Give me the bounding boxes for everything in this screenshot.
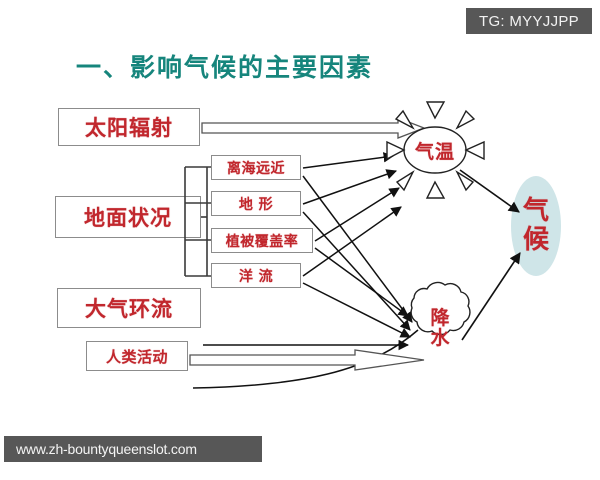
outcome-label-temperature: 气温 [404,128,466,172]
arrows-subfactors-to-rain [303,176,412,337]
page-title: 一、影响气候的主要因素 [76,48,373,84]
curve-human-to-rain [193,330,418,388]
subfactor-box-distance-from-sea[interactable]: 离海远近 [211,155,301,180]
subfactor-box-ocean-current[interactable]: 洋 流 [211,263,301,288]
subfactor-box-vegetation-coverage[interactable]: 植被覆盖率 [211,228,313,253]
arrows-subfactors-to-temp [303,156,401,276]
subfactor-box-terrain[interactable]: 地 形 [211,191,301,216]
arrow-temp-to-climate [460,170,519,212]
precipitation-char-1: 降 [430,309,449,329]
precipitation-char-2: 水 [430,329,449,349]
outcome-label-precipitation: 降 水 [418,296,462,362]
outcome-label-climate: 气 候 [513,178,559,274]
factor-box-ground-conditions[interactable]: 地面状况 [55,196,201,238]
factor-box-atmospheric-circulation[interactable]: 大气环流 [57,288,201,328]
arrow-solar-to-temp [202,118,424,138]
arrow-human-to-rain [190,350,424,370]
site-watermark: www.zh-bountyqueenslot.com [4,436,262,462]
factor-box-solar-radiation[interactable]: 太阳辐射 [58,108,200,146]
climate-char-1: 气 [523,197,549,226]
climate-char-2: 候 [523,226,549,255]
arrow-rain-to-climate [462,253,520,340]
slide-canvas: TG: MYYJJPP 一、影响气候的主要因素 [0,0,600,480]
telegram-tag: TG: MYYJJPP [466,8,592,34]
factor-box-human-activity[interactable]: 人类活动 [86,341,188,371]
